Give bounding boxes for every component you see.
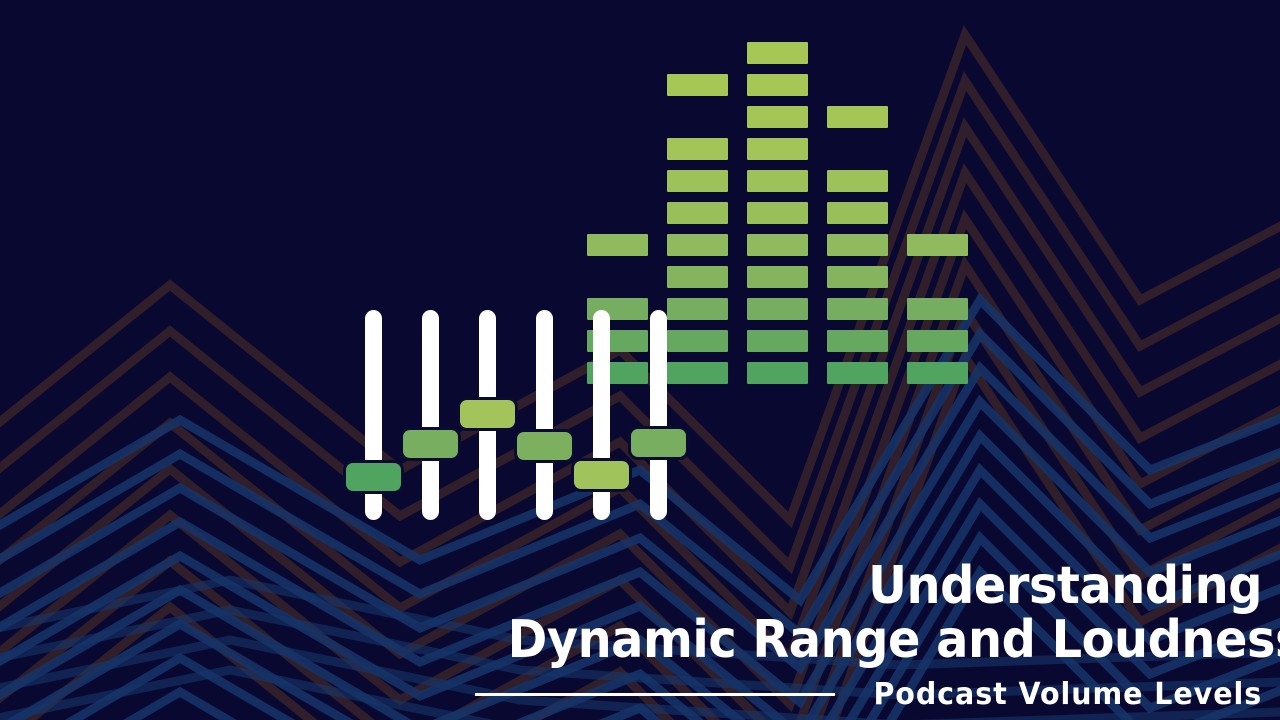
poster-canvas: Understanding Dynamic Range and Loudness… bbox=[0, 0, 1280, 720]
fader-4-knob[interactable] bbox=[517, 432, 572, 460]
fader-2-knob[interactable] bbox=[403, 430, 458, 458]
subtitle-row: Podcast Volume Levels bbox=[442, 677, 1262, 712]
fader-4-track[interactable] bbox=[536, 310, 553, 520]
title-block: Understanding Dynamic Range and Loudness… bbox=[442, 559, 1262, 712]
fader-1-knob[interactable] bbox=[346, 463, 401, 491]
subtitle-text: Podcast Volume Levels bbox=[873, 677, 1262, 712]
fader-6-knob[interactable] bbox=[631, 429, 686, 457]
fader-2-track[interactable] bbox=[422, 310, 439, 520]
title-line-1: Understanding bbox=[508, 559, 1262, 613]
fader-5-knob[interactable] bbox=[574, 461, 629, 489]
title-line-2: Dynamic Range and Loudness bbox=[508, 613, 1262, 667]
fader-6-track[interactable] bbox=[650, 310, 667, 520]
subtitle-rule bbox=[475, 693, 835, 696]
fader-3-knob[interactable] bbox=[460, 400, 515, 428]
